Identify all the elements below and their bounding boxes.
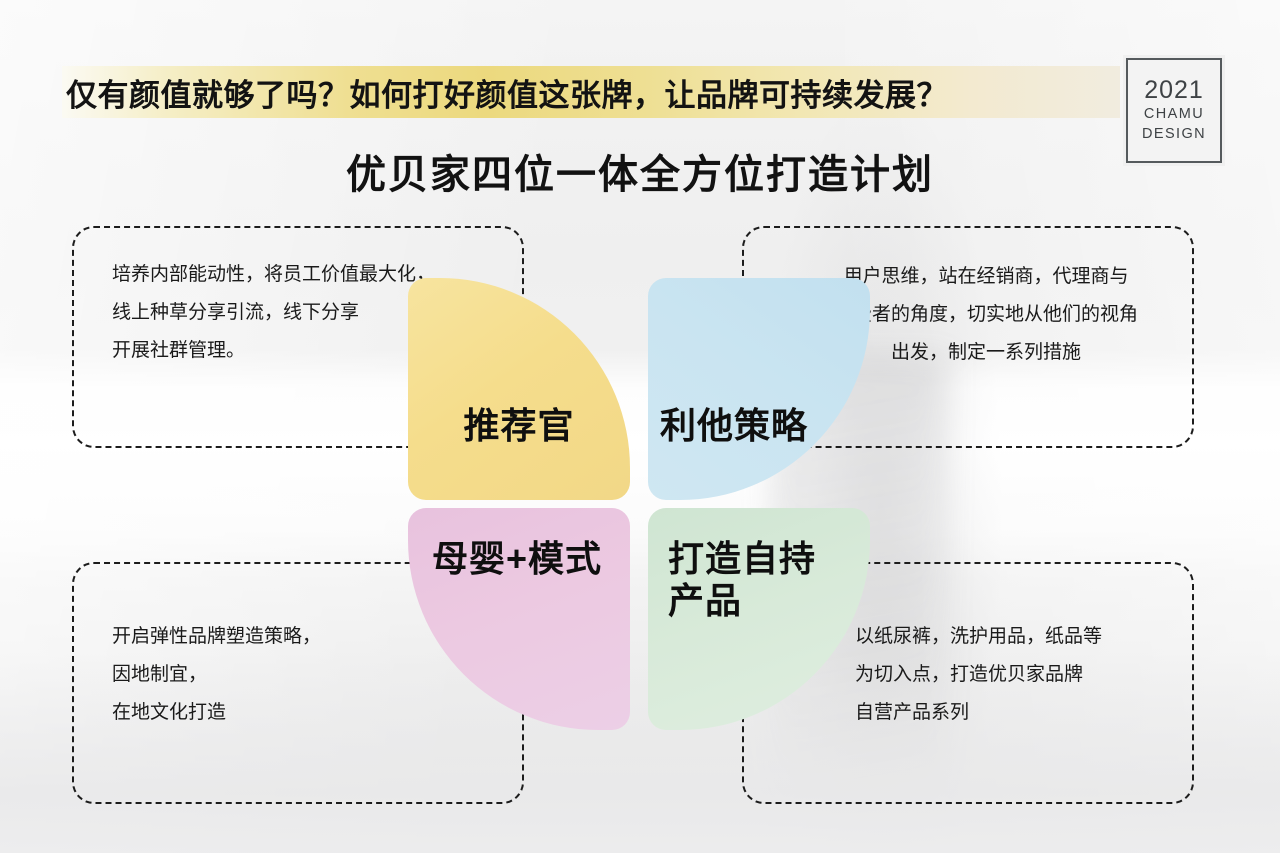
logo-brand: CHAMU	[1144, 105, 1204, 123]
headline-banner: 仅有颜值就够了吗？如何打好颜值这张牌，让品牌可持续发展？	[62, 66, 1120, 118]
logo-year: 2021	[1144, 78, 1204, 103]
logo-word: DESIGN	[1142, 125, 1206, 143]
petal-altruism-strategy[interactable]	[648, 278, 870, 500]
slide-canvas: 仅有颜值就够了吗？如何打好颜值这张牌，让品牌可持续发展？ 2021 CHAMU …	[0, 0, 1280, 853]
note-text-bottom-right: 以纸尿裤，洗护用品，纸品等 为切入点，打造优贝家品牌 自营产品系列	[855, 618, 1185, 732]
petal-recommender[interactable]	[408, 278, 630, 500]
petal-shape-altruism-strategy	[648, 278, 870, 500]
petal-shape-recommender	[408, 278, 630, 500]
headline-text: 仅有颜值就够了吗？如何打好颜值这张牌，让品牌可持续发展？	[62, 66, 1120, 118]
petal-label-altruism-strategy: 利他策略	[660, 405, 890, 447]
page-title: 优贝家四位一体全方位打造计划	[0, 142, 1280, 200]
petal-label-maternal-infant-plus: 母婴+模式	[404, 538, 630, 580]
petal-label-recommender: 推荐官	[408, 405, 630, 447]
petal-label-self-owned-product: 打造自持 产品	[668, 538, 898, 623]
